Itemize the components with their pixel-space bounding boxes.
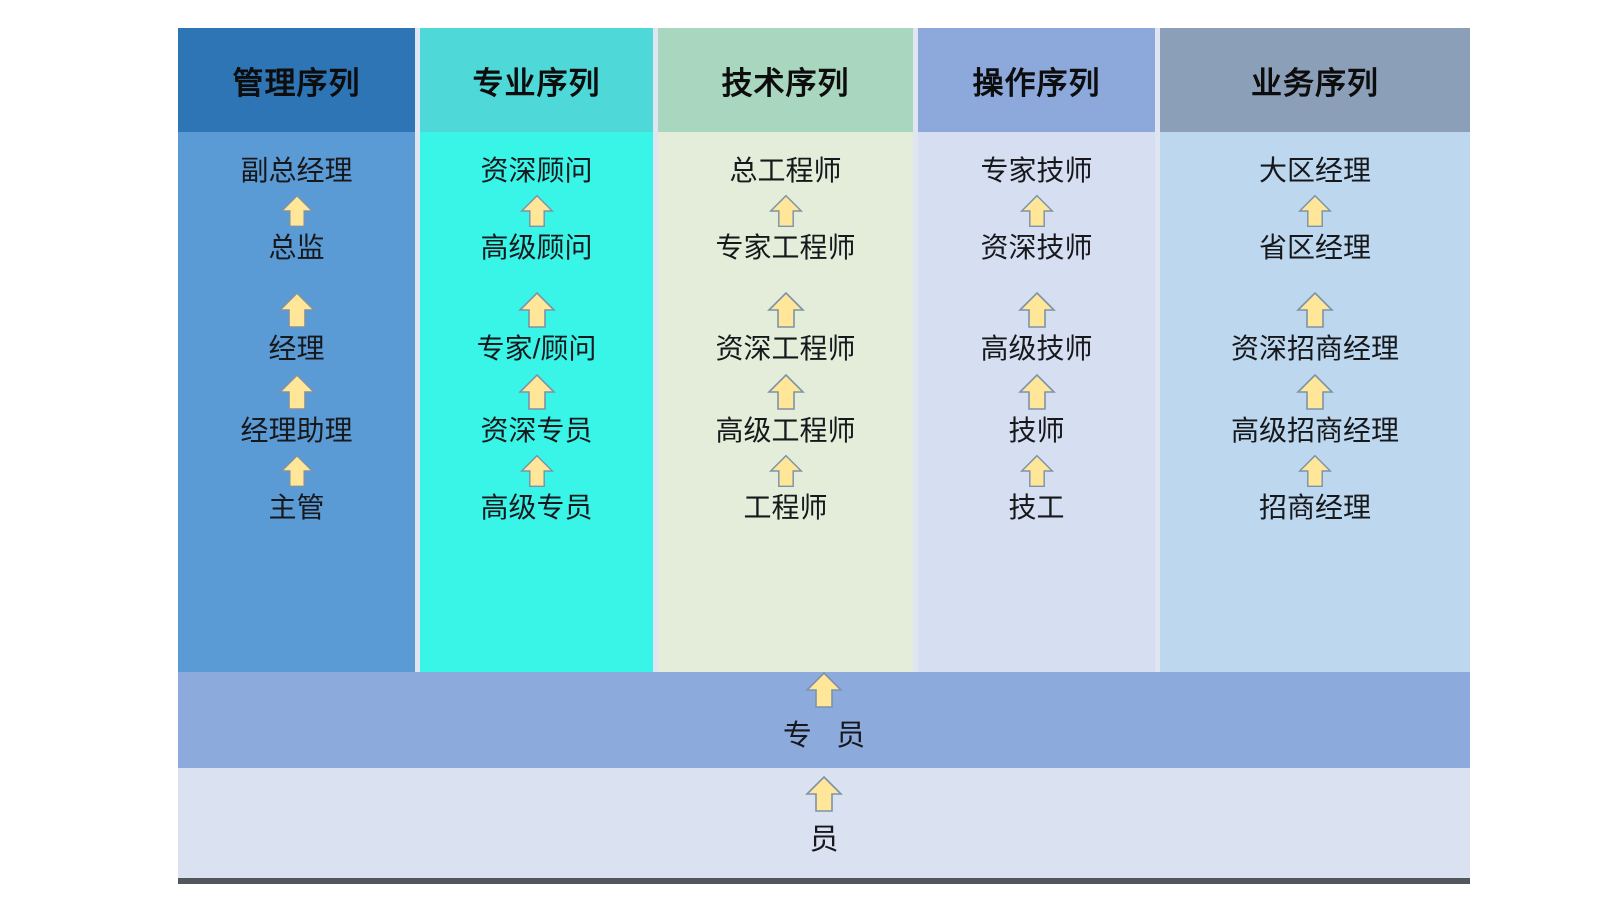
up-arrow-icon [277, 372, 317, 412]
rank-item: 副总经理 [240, 156, 352, 187]
column-header-label: 专业序列 [473, 58, 601, 103]
rank-item: 高级专员 [480, 493, 592, 524]
column-header-professional: 专业序列 [420, 28, 653, 132]
up-arrow-icon [1295, 290, 1335, 330]
bottom-rule-divider [178, 878, 1470, 884]
up-arrow-icon [519, 453, 555, 489]
rank-item: 高级技师 [980, 334, 1092, 365]
column-header-management: 管理序列 [178, 28, 415, 132]
rank-item: 技工 [1008, 493, 1064, 524]
sequence-column-technical[interactable]: 技术序列 总工程师 专家工程师 资深工程师 [658, 28, 913, 672]
rank-item: 高级顾问 [480, 233, 592, 264]
up-arrow-icon [1297, 453, 1333, 489]
up-arrow-icon [279, 453, 315, 489]
column-body-management: 副总经理 总监 经理 经理助理 [178, 132, 415, 672]
up-arrow-icon [279, 193, 315, 229]
column-header-label: 操作序列 [973, 58, 1101, 103]
column-header-label: 技术序列 [722, 58, 850, 103]
column-body-professional: 资深顾问 高级顾问 专家/顾问 资深专员 [420, 132, 653, 672]
up-arrow-icon [517, 290, 557, 330]
sequence-columns: 管理序列 副总经理 总监 经理 [178, 28, 1470, 672]
sequence-column-operation[interactable]: 操作序列 专家技师 资深技师 高级技师 [918, 28, 1155, 672]
rank-item: 高级招商经理 [1231, 416, 1399, 447]
column-body-technical: 总工程师 专家工程师 资深工程师 高级工程师 [658, 132, 913, 672]
up-arrow-icon [519, 193, 555, 229]
up-arrow-icon [1019, 453, 1055, 489]
up-arrow-icon [804, 774, 844, 814]
band-label: 员 [809, 816, 838, 858]
rank-item: 专家工程师 [715, 233, 855, 264]
sequence-column-management[interactable]: 管理序列 副总经理 总监 经理 [178, 28, 415, 672]
up-arrow-icon [768, 193, 804, 229]
column-header-operation: 操作序列 [918, 28, 1155, 132]
rank-item: 省区经理 [1259, 233, 1371, 264]
sequence-column-professional[interactable]: 专业序列 资深顾问 高级顾问 专家/顾问 [420, 28, 653, 672]
rank-item: 资深工程师 [715, 334, 855, 365]
diagram-canvas: 管理序列 副总经理 总监 经理 [0, 0, 1600, 900]
up-arrow-icon [1019, 193, 1055, 229]
column-header-label: 管理序列 [233, 58, 361, 103]
rank-item: 经理 [268, 334, 324, 365]
rank-item: 资深顾问 [480, 156, 592, 187]
up-arrow-icon [1017, 290, 1057, 330]
up-arrow-icon [1297, 193, 1333, 229]
rank-item: 高级工程师 [715, 416, 855, 447]
rank-item: 专家/顾问 [477, 334, 597, 365]
up-arrow-icon [1295, 372, 1335, 412]
up-arrow-icon [766, 290, 806, 330]
column-header-business: 业务序列 [1160, 28, 1470, 132]
column-header-label: 业务序列 [1251, 58, 1379, 103]
up-arrow-icon [766, 372, 806, 412]
rank-item: 经理助理 [240, 416, 352, 447]
up-arrow-icon [1017, 372, 1057, 412]
rank-item: 技师 [1008, 416, 1064, 447]
rank-item: 大区经理 [1259, 156, 1371, 187]
up-arrow-icon [768, 453, 804, 489]
rank-item: 主管 [268, 493, 324, 524]
column-header-technical: 技术序列 [658, 28, 913, 132]
rank-item: 总工程师 [729, 156, 841, 187]
up-arrow-icon [804, 670, 844, 710]
column-body-business: 大区经理 省区经理 资深招商经理 高级招商经理 [1160, 132, 1470, 672]
rank-item: 专家技师 [980, 156, 1092, 187]
up-arrow-icon [517, 372, 557, 412]
rank-item: 资深技师 [980, 233, 1092, 264]
band-zhuanyuan[interactable]: 专 员 [178, 672, 1470, 768]
column-body-operation: 专家技师 资深技师 高级技师 技师 [918, 132, 1155, 672]
rank-item: 工程师 [743, 493, 827, 524]
rank-item: 总监 [268, 233, 324, 264]
sequence-column-business[interactable]: 业务序列 大区经理 省区经理 资深招商经理 [1160, 28, 1470, 672]
up-arrow-icon [277, 290, 317, 330]
band-yuan[interactable]: 员 [178, 768, 1470, 878]
band-label: 专 员 [783, 712, 865, 754]
career-ladder-diagram: 管理序列 副总经理 总监 经理 [178, 28, 1470, 878]
rank-item: 资深专员 [480, 416, 592, 447]
rank-item: 招商经理 [1259, 493, 1371, 524]
rank-item: 资深招商经理 [1231, 334, 1399, 365]
